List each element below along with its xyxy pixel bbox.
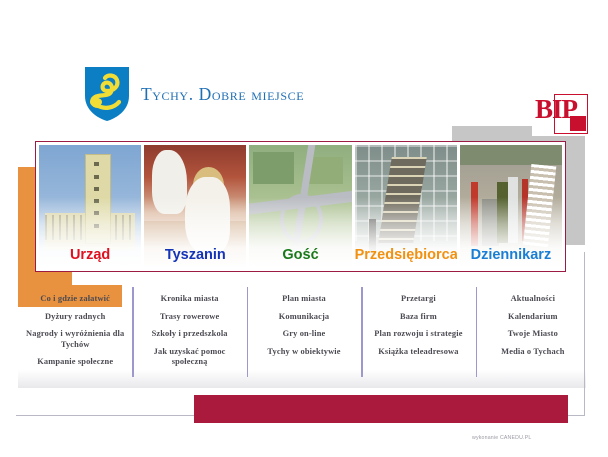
footer-credit[interactable]: wykonanie CANEDU.PL <box>472 435 531 441</box>
page-root: Tychy. Dobre miejsce BIP <box>0 0 608 457</box>
menu-link[interactable]: Plan miasta <box>251 294 357 305</box>
menu-link[interactable]: Tychy w obiektywie <box>251 347 357 358</box>
menu-link[interactable]: Aktualności <box>480 294 586 305</box>
banner-tile-label: Przedsiębiorca <box>355 247 457 263</box>
banner-tile-list: Urząd Tyszanin Gość <box>39 145 562 268</box>
bip-square <box>570 116 586 131</box>
banner-tile-label: Gość <box>249 247 351 263</box>
banner-tile-przedsiebiorca[interactable]: Przedsiębiorca <box>355 145 457 268</box>
menu-link[interactable]: Kalendarium <box>480 312 586 323</box>
tychy-coat-of-arms-icon <box>84 66 130 122</box>
menu-link[interactable]: Dyżury radnych <box>22 312 128 323</box>
menu-link[interactable]: Gry on-line <box>251 329 357 340</box>
site-header: Tychy. Dobre miejsce <box>0 0 608 130</box>
menu-link[interactable]: Plan rozwoju i strategie <box>365 329 471 340</box>
menu-link[interactable]: Kampanie społeczne <box>22 357 128 368</box>
menu-link[interactable]: Trasy rowerowe <box>136 312 242 323</box>
menu-link[interactable]: Książka teleadresowa <box>365 347 471 358</box>
menu-link[interactable]: Baza firm <box>365 312 471 323</box>
banner-tile-label: Tyszanin <box>144 247 246 263</box>
bip-logo-inner: BIP <box>532 92 590 136</box>
banner-tile-urzad[interactable]: Urząd <box>39 145 141 268</box>
menu-link[interactable]: Media o Tychach <box>480 347 586 358</box>
footer-shade <box>18 370 586 388</box>
menu-link[interactable]: Twoje Miasto <box>480 329 586 340</box>
banner-tile-label: Urząd <box>39 247 141 263</box>
bip-logo-icon[interactable]: BIP <box>532 92 590 136</box>
banner-tile-tyszanin[interactable]: Tyszanin <box>144 145 246 268</box>
right-divider-line <box>584 252 585 416</box>
banner-tile-gosc[interactable]: Gość <box>249 145 351 268</box>
banner-tile-dziennikarz[interactable]: Dziennikarz <box>460 145 562 268</box>
menu-link[interactable]: Kronika miasta <box>136 294 242 305</box>
menu-link[interactable]: Jak uzyskać pomoc społeczną <box>136 347 242 368</box>
menu-link[interactable]: Przetargi <box>365 294 471 305</box>
menu-link[interactable]: Nagrody i wyróżnienia dla Tychów <box>22 329 128 350</box>
banner-tile-label: Dziennikarz <box>460 247 562 263</box>
footer-crimson-bar <box>194 395 568 423</box>
banner-navigation: Urząd Tyszanin Gość <box>35 141 566 272</box>
menu-link[interactable]: Szkoły i przedszkola <box>136 329 242 340</box>
menu-link[interactable]: Komunikacja <box>251 312 357 323</box>
menu-link[interactable]: Co i gdzie załatwić <box>22 294 128 305</box>
brand-title: Tychy. Dobre miejsce <box>141 84 304 105</box>
